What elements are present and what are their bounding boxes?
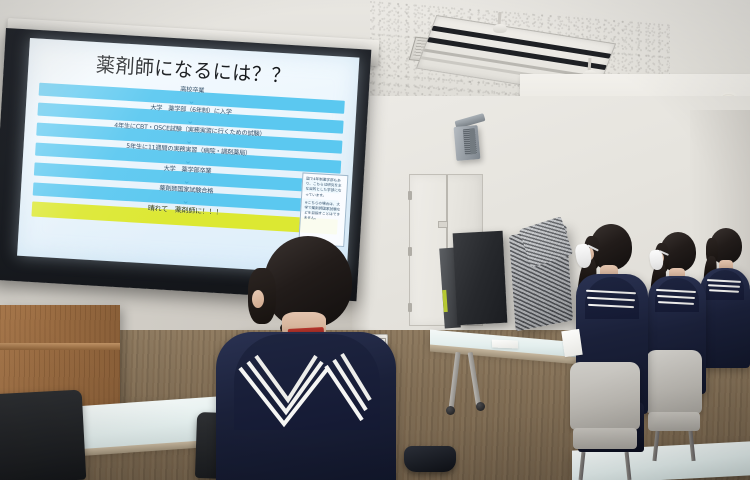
table-caster bbox=[476, 402, 485, 411]
door-hinge-top bbox=[408, 191, 412, 200]
sailor-collar-stripes bbox=[216, 332, 396, 462]
door-hinge-mid bbox=[408, 247, 412, 256]
bag-on-floor bbox=[404, 446, 456, 472]
handout-paper bbox=[492, 340, 518, 349]
handout-paper-held bbox=[561, 329, 582, 357]
folded-whiteboard-panel bbox=[453, 231, 508, 325]
student-right-far bbox=[700, 228, 750, 378]
chair-right-middle[interactable] bbox=[646, 350, 702, 460]
door-hinge-bottom bbox=[408, 303, 412, 312]
side-note-paragraph-1: 国で4年制薬学部もあり、こちらは研究を主な目的とした学部になっています。 bbox=[305, 177, 344, 200]
torso-uniform bbox=[700, 268, 750, 368]
wall-mounted-speaker bbox=[454, 125, 481, 161]
door-plate bbox=[438, 221, 448, 228]
ceiling-mount-knob-left bbox=[493, 24, 507, 33]
seated-person-left-silhouette bbox=[0, 390, 86, 480]
table-caster bbox=[446, 406, 455, 415]
ear bbox=[252, 290, 264, 308]
torso-uniform bbox=[216, 332, 396, 480]
foreground-student-center bbox=[216, 236, 396, 480]
side-note-paragraph-2: ※こちらの場合は、大学で薬剤師国家試験などを目指すことはできません。 bbox=[304, 200, 343, 223]
classroom-photo-scene: 薬剤師になるには？？ 高校卒業 ⌄ 大学 薬学部（6年制）に入学 ⌄ 4年生にC… bbox=[0, 0, 750, 480]
chair-right-near[interactable] bbox=[570, 362, 640, 480]
